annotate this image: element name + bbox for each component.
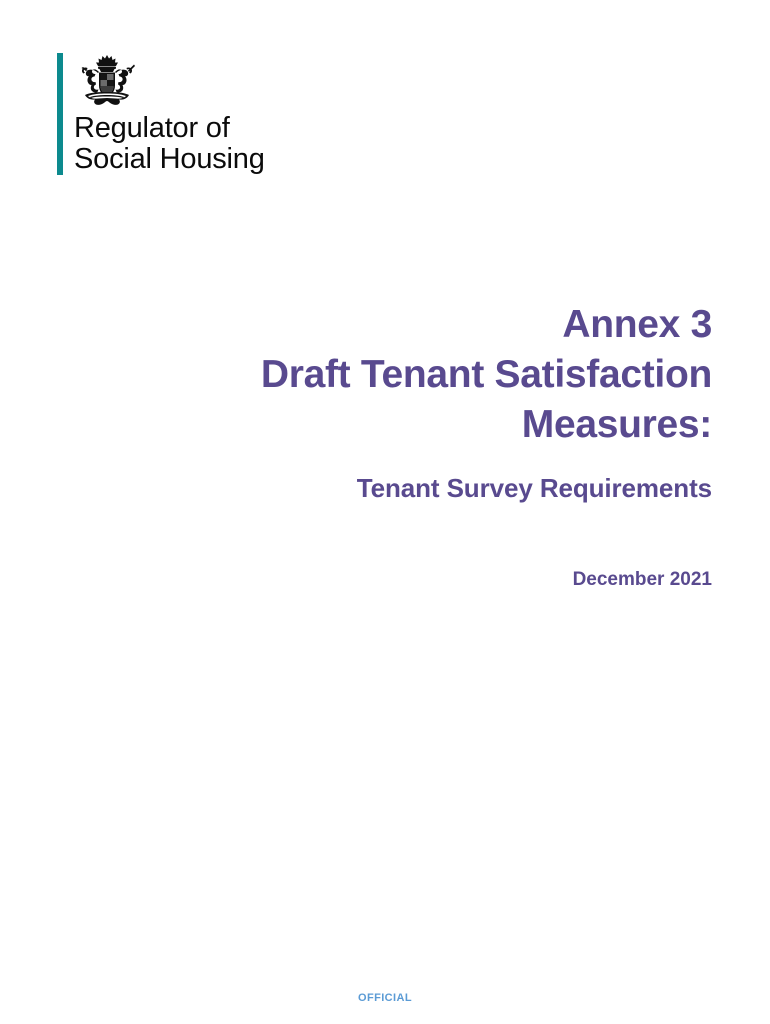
organisation-logo: Regulator of Social Housing — [57, 53, 265, 175]
page-subtitle: Tenant Survey Requirements — [52, 472, 712, 504]
page-title: Annex 3 Draft Tenant Satisfaction Measur… — [52, 300, 712, 450]
page-title-line-1: Annex 3 — [52, 300, 712, 350]
logo-content: Regulator of Social Housing — [63, 53, 265, 175]
publication-date: December 2021 — [52, 568, 712, 592]
logo-wordmark: Regulator of Social Housing — [74, 113, 265, 175]
page-footer: OFFICIAL — [0, 988, 770, 1006]
page-title-line-3: Measures: — [52, 400, 712, 450]
document-page: Regulator of Social Housing Annex 3 Draf… — [0, 0, 770, 1024]
logo-wordmark-line-1: Regulator of — [74, 113, 265, 144]
royal-coat-of-arms-icon — [76, 53, 138, 109]
page-title-line-2: Draft Tenant Satisfaction — [52, 350, 712, 400]
classification-label: OFFICIAL — [358, 992, 412, 1004]
title-block: Annex 3 Draft Tenant Satisfaction Measur… — [52, 300, 712, 592]
logo-wordmark-line-2: Social Housing — [74, 144, 265, 175]
